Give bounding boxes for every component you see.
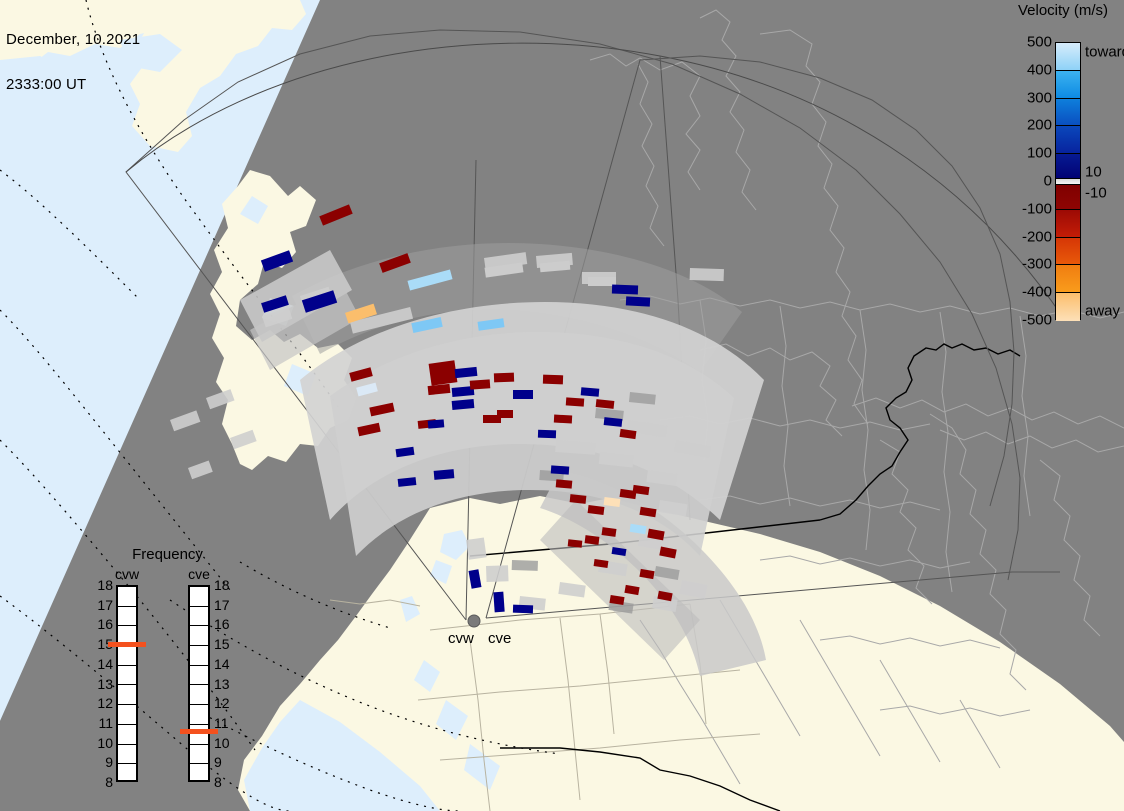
velocity-cell [612,285,638,295]
radar-velocity-map: December, 10.2021 2333:00 UT cvw cve Vel… [0,0,1124,811]
colorbar-tick-label: -500 [1022,312,1052,329]
frequency-scale-label: 17 [91,597,113,613]
frequency-scale-label: 16 [214,616,236,632]
frequency-cell [190,646,208,666]
colorbar-title: Velocity (m/s) [1002,2,1124,19]
frequency-bar-cvw [116,585,138,782]
colorbar-segment [1056,43,1080,71]
frequency-marker-cvw [108,642,146,647]
frequency-cell [118,607,136,627]
colorbar-tick-label: -300 [1022,256,1052,273]
frequency-scale-label: 18 [214,577,236,593]
velocity-cell [581,387,600,397]
time-label: 2333:00 UT [6,77,140,92]
velocity-cell [588,277,616,286]
velocity-cell [494,373,514,383]
colorbar-tick-label: -400 [1022,284,1052,301]
frequency-cell [118,745,136,765]
colorbar-segment [1056,154,1080,179]
colorbar-tick-label: -200 [1022,228,1052,245]
frequency-scale-label: 16 [91,616,113,632]
frequency-cell [118,685,136,705]
frequency-scale-label: 18 [91,577,113,593]
colorbar-toward-label: toward [1085,44,1124,61]
colorbar-segment [1056,71,1080,99]
velocity-cell [513,605,533,614]
velocity-cell [428,419,445,428]
frequency-cell [118,725,136,745]
frequency-cell [118,646,136,666]
frequency-cell [190,587,208,607]
velocity-cell [434,469,455,480]
frequency-scale-label: 17 [214,597,236,613]
velocity-cell [551,465,570,474]
colorbar-gradient [1055,42,1081,320]
colorbar-tick-label: -100 [1022,200,1052,217]
frequency-scale-label: 14 [214,656,236,672]
frequency-cell [190,764,208,784]
frequency-scale-label: 13 [214,676,236,692]
velocity-cell [429,360,458,385]
radar-site-marker [468,615,480,627]
frequency-cell [118,587,136,607]
site-label-cve: cve [488,630,511,647]
frequency-scale-label: 11 [91,715,113,731]
colorbar-tick-label: 300 [1027,89,1052,106]
velocity-cell [626,296,650,306]
colorbar-segment [1056,185,1080,210]
site-label-cvw: cvw [448,630,474,647]
colorbar-tick-label: 200 [1027,117,1052,134]
colorbar-zero-upper-label: 10 [1085,164,1102,181]
date-label: December, 10.2021 [6,32,140,47]
frequency-scale-label: 12 [214,695,236,711]
frequency-scale-label: 13 [91,676,113,692]
frequency-scale-label: 15 [214,636,236,652]
colorbar-segment [1056,99,1080,127]
frequency-cell [190,666,208,686]
colorbar-away-label: away [1085,303,1120,320]
frequency-cell [190,705,208,725]
frequency-cell [190,745,208,765]
frequency-scale-label: 8 [91,774,113,790]
colorbar-tick-label: 0 [1044,173,1052,190]
frequency-legend: Frequency cvw cve 18171615141312111098 1… [95,546,240,794]
frequency-marker-cve [180,729,218,734]
frequency-scale-label: 12 [91,695,113,711]
velocity-cell [543,375,563,385]
frequency-cell [190,685,208,705]
frequency-scale-label: 10 [214,735,236,751]
frequency-scale-label: 8 [214,774,236,790]
velocity-colorbar: Velocity (m/s) 5004003002001000-100-200-… [1000,0,1124,340]
velocity-cell [493,592,504,613]
frequency-scale-label: 9 [91,754,113,770]
colorbar-tick-label: 500 [1027,34,1052,51]
colorbar-tick-label: 100 [1027,145,1052,162]
frequency-cell [190,725,208,745]
velocity-cell [538,430,556,439]
colorbar-segment [1056,210,1080,238]
frequency-title: Frequency [95,546,240,563]
colorbar-tick-label: 400 [1027,61,1052,78]
velocity-cell [497,410,513,418]
velocity-cell [513,390,533,399]
velocity-cell [566,397,585,406]
colorbar-segment [1056,293,1080,321]
velocity-cell [452,399,475,410]
frequency-scale-label: 9 [214,754,236,770]
velocity-cell [570,494,587,504]
frequency-column-label-cve: cve [179,566,219,582]
frequency-cell [118,705,136,725]
velocity-cell [585,535,600,545]
frequency-cell [118,666,136,686]
frequency-cell [190,607,208,627]
frequency-cell [118,764,136,784]
timestamp-block: December, 10.2021 2333:00 UT [6,2,140,122]
velocity-cell [470,379,491,389]
colorbar-zero-lower-label: -10 [1085,185,1107,202]
colorbar-segment [1056,238,1080,266]
colorbar-segment [1056,265,1080,293]
velocity-cell [556,479,573,488]
frequency-scale-label: 10 [91,735,113,751]
colorbar-segment [1056,126,1080,154]
velocity-cell [568,539,583,547]
velocity-cell [554,415,572,424]
frequency-cell [190,626,208,646]
frequency-column-label-cvw: cvw [107,566,147,582]
frequency-scale-label: 14 [91,656,113,672]
frequency-bar-cve [188,585,210,782]
